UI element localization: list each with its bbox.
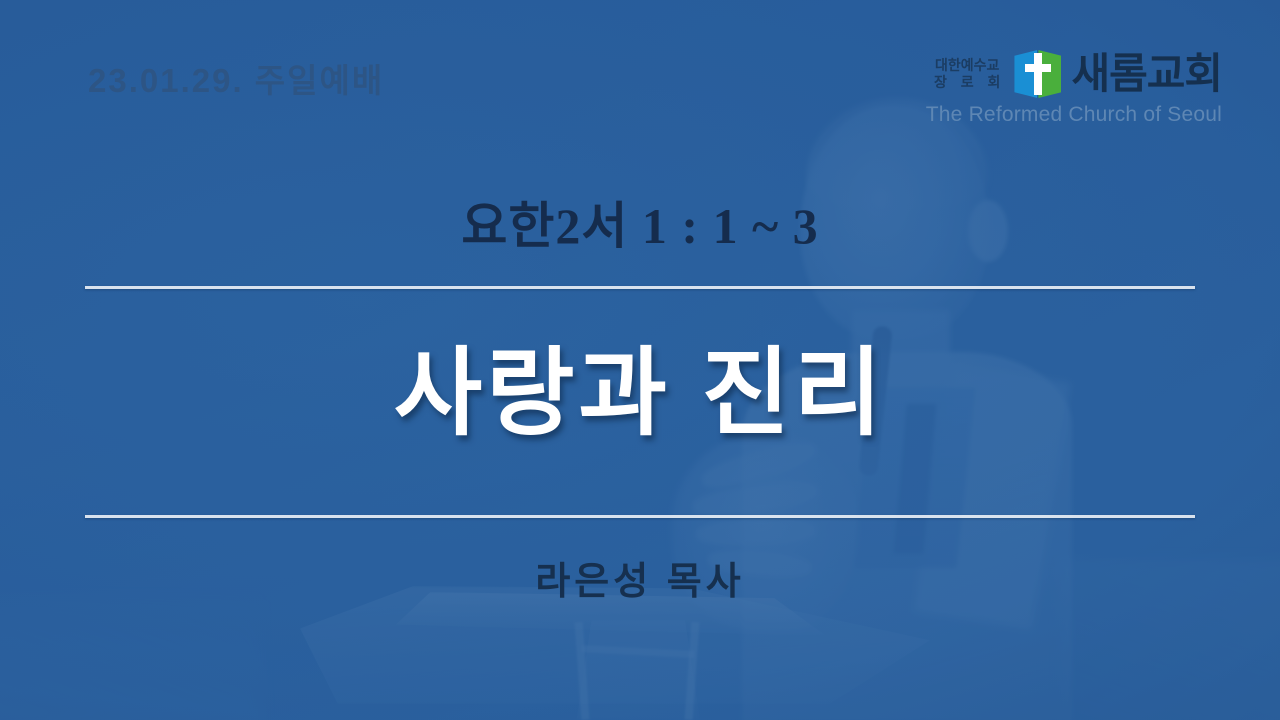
speaker-name: 라은성 목사 xyxy=(0,550,1280,605)
denomination-line-1: 대한예수교 xyxy=(929,57,1005,74)
scripture-reference: 요한2서 1 : 1 ~ 3 xyxy=(0,186,1280,258)
service-date-label: 23.01.29. 주일예배 xyxy=(88,54,384,102)
sermon-title: 사랑과 진리 xyxy=(0,342,1280,446)
cross-vertical xyxy=(1034,53,1042,95)
church-logo: 대한예수교 장 로 회 새롬교회 The Reformed Church of … xyxy=(926,50,1222,125)
cross-horizontal xyxy=(1025,64,1051,72)
divider-bottom xyxy=(85,515,1195,518)
divider-top xyxy=(85,286,1195,289)
sermon-title-slide: 23.01.29. 주일예배 대한예수교 장 로 회 새롬교회 The Refo… xyxy=(0,0,1280,720)
slide-content: 23.01.29. 주일예배 대한예수교 장 로 회 새롬교회 The Refo… xyxy=(0,0,1280,720)
open-book-cross-icon xyxy=(1014,50,1062,98)
logo-primary-row: 대한예수교 장 로 회 새롬교회 xyxy=(929,50,1222,98)
denomination-text: 대한예수교 장 로 회 xyxy=(929,57,1005,91)
church-name: 새롬교회 xyxy=(1071,53,1222,95)
denomination-line-2: 장 로 회 xyxy=(929,74,1005,91)
church-tagline: The Reformed Church of Seoul xyxy=(926,104,1222,125)
